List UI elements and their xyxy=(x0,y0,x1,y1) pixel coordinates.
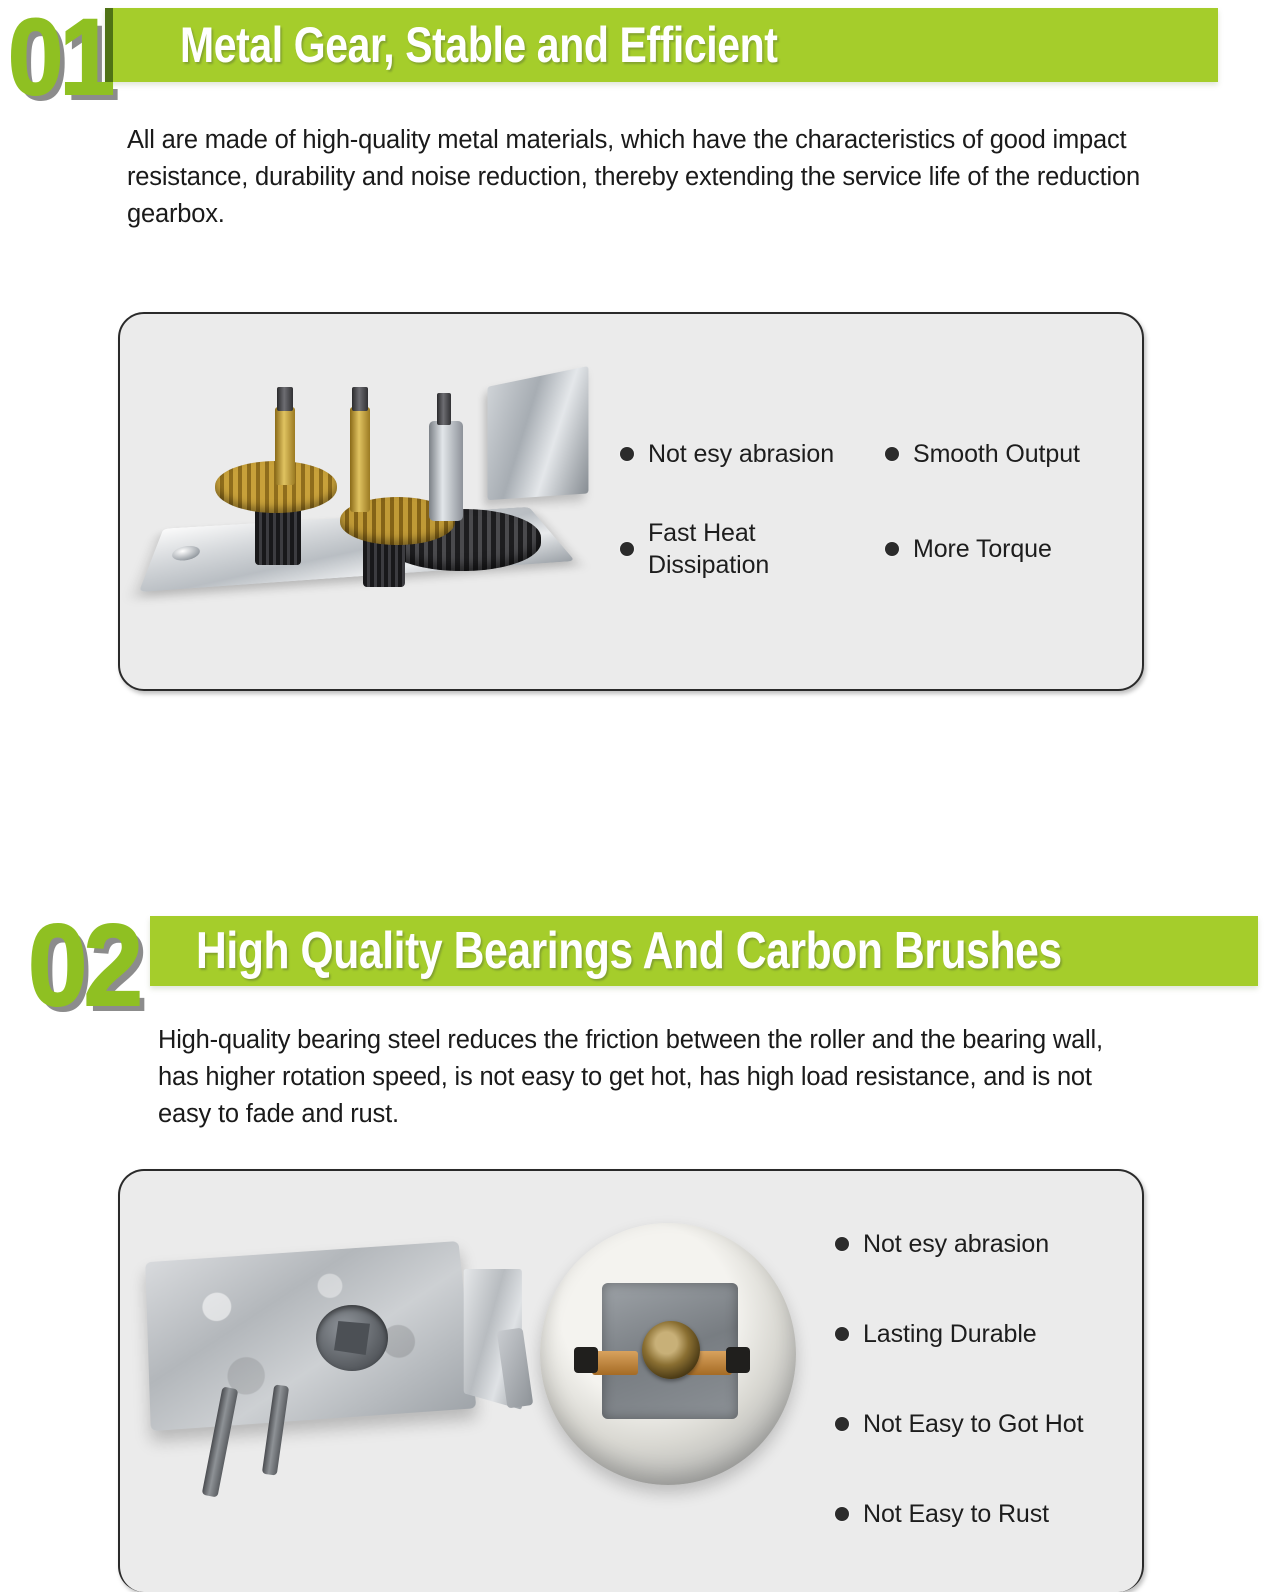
shaft-tip-1 xyxy=(277,387,293,411)
bearing-plate-photo xyxy=(140,1239,540,1539)
bullet-label: Fast Heat Dissipation xyxy=(648,517,769,581)
bullet-dot-icon xyxy=(620,542,634,556)
bullet-label: More Torque xyxy=(913,533,1052,565)
output-shaft-hole xyxy=(316,1305,388,1371)
bullet-item: Lasting Durable xyxy=(835,1289,1125,1379)
shaft-tip-2 xyxy=(352,387,368,411)
steel-shaft xyxy=(429,421,463,521)
carbon-brush-photo xyxy=(520,1209,820,1529)
section-paragraph-01: All are made of high-quality metal mater… xyxy=(127,122,1182,233)
section-title-02: High Quality Bearings And Carbon Brushes xyxy=(196,919,1062,983)
section-number-01: 01 xyxy=(8,0,111,119)
bullet-dot-icon xyxy=(885,447,899,461)
bullet-dot-icon xyxy=(885,542,899,556)
bullet-label: Smooth Output xyxy=(913,438,1080,470)
feature-bullet-list-02: Not esy abrasion Lasting Durable Not Eas… xyxy=(835,1199,1125,1559)
section-paragraph-02: High-quality bearing steel reduces the f… xyxy=(158,1022,1123,1133)
gearbox-back-plate xyxy=(145,1241,476,1431)
brass-shaft-1 xyxy=(275,407,295,485)
carbon-brush-left xyxy=(574,1347,598,1373)
feature-card-02: Not esy abrasion Lasting Durable Not Eas… xyxy=(118,1169,1144,1592)
bullet-label: Not esy abrasion xyxy=(863,1228,1049,1260)
gearbox-photo xyxy=(145,369,615,629)
copper-tab-left xyxy=(592,1351,638,1375)
bullet-dot-icon xyxy=(835,1417,849,1431)
bullet-item: Not esy abrasion xyxy=(620,438,885,470)
bullet-item: Not esy abrasion xyxy=(835,1199,1125,1289)
bullet-item: Not Easy to Rust xyxy=(835,1469,1125,1559)
bullet-item: More Torque xyxy=(885,533,1130,565)
bullet-item: Fast Heat Dissipation xyxy=(620,517,885,581)
gearbox-bracket xyxy=(487,366,588,500)
bullet-item: Not Easy to Got Hot xyxy=(835,1379,1125,1469)
bullet-item: Smooth Output xyxy=(885,438,1130,470)
feature-bullet-list-01: Not esy abrasion Smooth Output Fast Heat… xyxy=(620,406,1130,596)
center-bearing xyxy=(642,1321,700,1379)
bullet-dot-icon xyxy=(835,1237,849,1251)
bullet-label: Not Easy to Got Hot xyxy=(863,1408,1083,1440)
bullet-dot-icon xyxy=(835,1507,849,1521)
section-number-02: 02 xyxy=(28,898,139,1032)
bullet-dot-icon xyxy=(620,447,634,461)
shaft-tip-3 xyxy=(437,393,451,425)
bullet-dot-icon xyxy=(835,1327,849,1341)
section-01-banner: 01 Metal Gear, Stable and Efficient xyxy=(0,0,1270,92)
bullet-label: Not Easy to Rust xyxy=(863,1498,1049,1530)
carbon-brush-right xyxy=(726,1347,750,1373)
bullet-label: Lasting Durable xyxy=(863,1318,1037,1350)
bullet-label: Not esy abrasion xyxy=(648,438,834,470)
section-01: 01 Metal Gear, Stable and Efficient All … xyxy=(0,0,1270,92)
brass-shaft-2 xyxy=(350,407,370,512)
feature-card-01: Not esy abrasion Smooth Output Fast Heat… xyxy=(118,312,1144,691)
section-title-01: Metal Gear, Stable and Efficient xyxy=(180,14,777,76)
